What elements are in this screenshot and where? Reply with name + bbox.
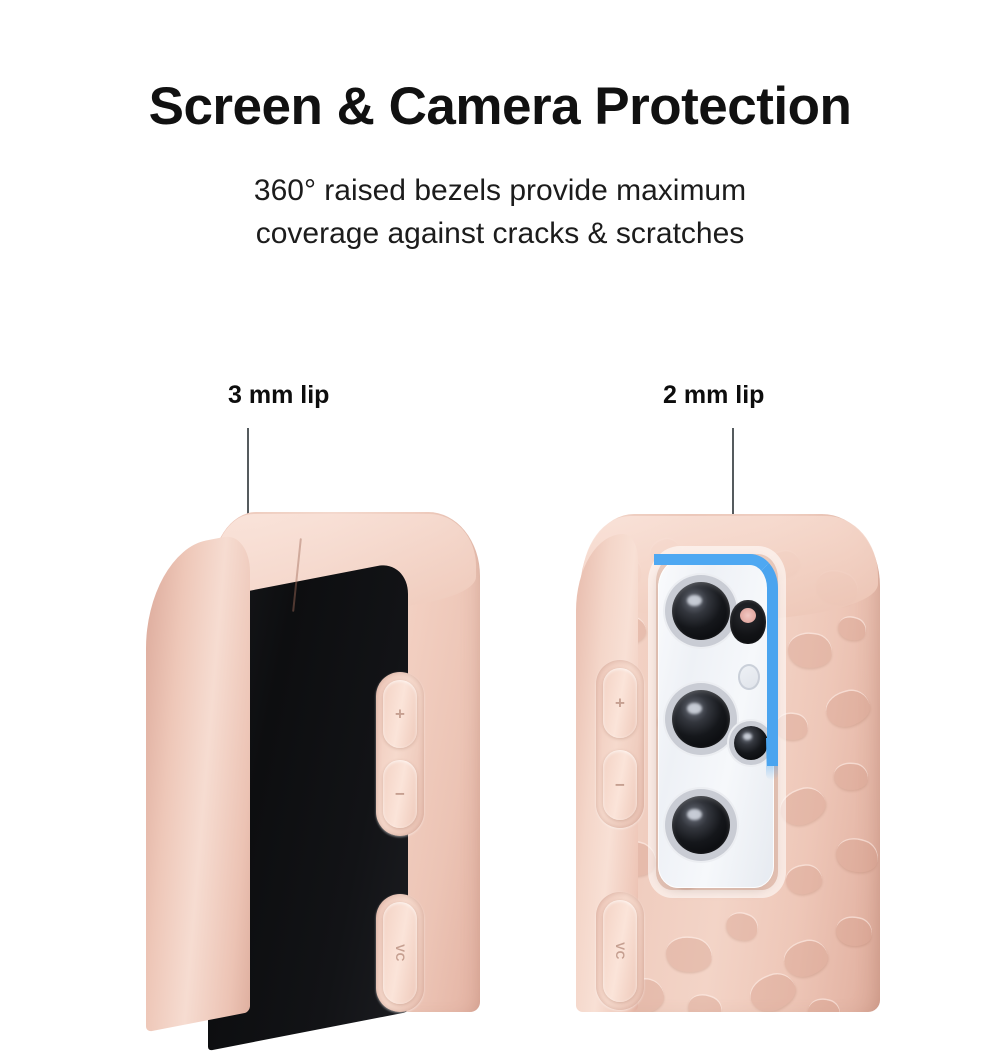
phone-left-front-view: + − VC: [150, 512, 480, 1012]
phone-right-back-view: + − VC: [580, 500, 900, 1012]
plus-icon: +: [395, 706, 405, 723]
volume-button-well-left: + −: [376, 672, 424, 836]
volume-up-button-left[interactable]: +: [383, 680, 417, 748]
minus-icon: −: [615, 777, 625, 794]
raised-bezel-lip-left: [146, 532, 250, 1032]
brand-mark-icon: VC: [614, 942, 626, 960]
brand-mark-icon: VC: [394, 944, 406, 962]
power-button-well-left: VC: [376, 894, 424, 1012]
volume-down-button-right[interactable]: −: [603, 750, 637, 820]
volume-up-button-right[interactable]: +: [603, 668, 637, 738]
power-button-right[interactable]: VC: [603, 900, 637, 1002]
power-button-well-right: VC: [596, 892, 644, 1010]
minus-icon: −: [395, 786, 405, 803]
power-button-left[interactable]: VC: [383, 902, 417, 1004]
plus-icon: +: [615, 695, 625, 712]
volume-button-well-right: + −: [596, 660, 644, 828]
product-image-stage: + − VC: [0, 0, 1000, 1000]
raised-bezel-accent-right: [654, 554, 778, 766]
volume-down-button-left[interactable]: −: [383, 760, 417, 828]
raised-bezel-accent-fade-right: [766, 738, 778, 780]
camera-lens-3: [672, 796, 730, 854]
